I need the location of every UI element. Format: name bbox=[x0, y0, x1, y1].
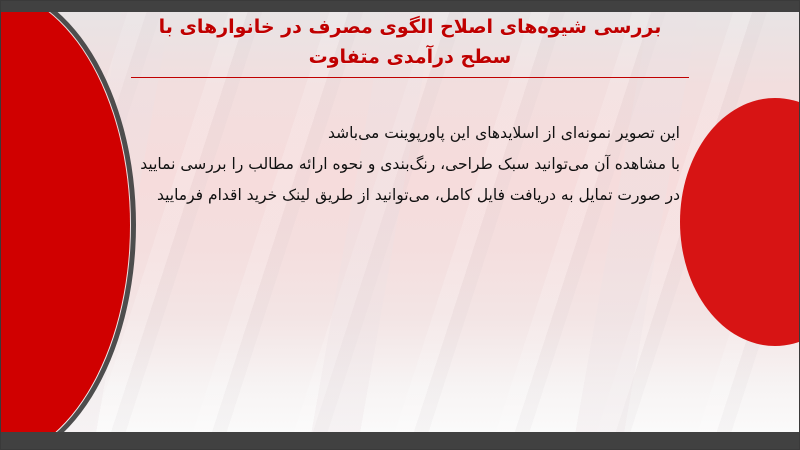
slide-title: بررسی شیوه‌های اصلاح الگوی مصرف در خانوا… bbox=[130, 12, 690, 72]
slide-title-line-1: بررسی شیوه‌های اصلاح الگوی مصرف در خانوا… bbox=[130, 12, 690, 42]
body-line-3: در صورت تمایل به دریافت فایل کامل، می‌تو… bbox=[120, 180, 680, 211]
body-line-1: این تصویر نمونه‌ای از اسلایدهای این پاور… bbox=[120, 118, 680, 149]
top-dark-bar bbox=[0, 0, 800, 12]
slide-body-text: این تصویر نمونه‌ای از اسلایدهای این پاور… bbox=[120, 118, 680, 211]
title-underline-rule bbox=[131, 77, 689, 78]
presentation-slide: بررسی شیوه‌های اصلاح الگوی مصرف در خانوا… bbox=[0, 0, 800, 450]
body-line-2: با مشاهده آن می‌توانید سبک طراحی، رنگ‌بن… bbox=[120, 149, 680, 180]
bottom-dark-bar bbox=[0, 432, 800, 450]
slide-title-line-2: سطح درآمدی متفاوت bbox=[130, 42, 690, 72]
left-gray-arc-outline bbox=[0, 0, 136, 450]
